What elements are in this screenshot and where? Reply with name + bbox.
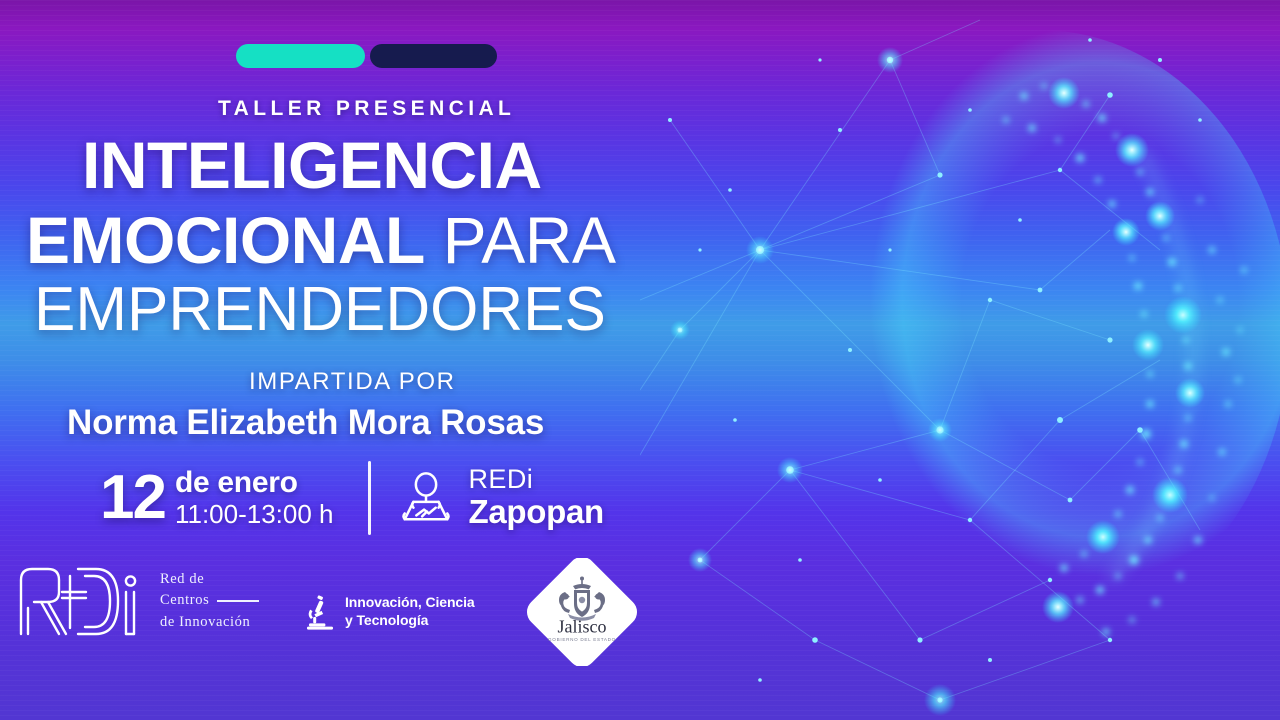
headline-line-2-strong: EMOCIONAL: [26, 203, 425, 277]
redi-logo-lockup: Red de Centros de Innovación: [14, 562, 259, 640]
event-meta: 12 de enero 11:00-13:00 h: [100, 455, 604, 541]
event-day: 12: [100, 467, 165, 529]
microscope-icon: [305, 594, 335, 630]
redi-tagline-line-3: de Innovación: [160, 612, 259, 633]
poster-canvas: TALLER PRESENCIAL INTELIGENCIA EMOCIONAL…: [0, 0, 1280, 720]
headline-line-3: EMPRENDEDORES: [0, 281, 760, 340]
headline-line-1: INTELIGENCIA: [0, 134, 760, 197]
redi-tagline-line-2: Centros: [160, 590, 209, 611]
footer-logos: Red de Centros de Innovación: [0, 556, 700, 666]
venue-text: REDi Zapopan: [469, 465, 604, 530]
kicker-label: TALLER PRESENCIAL: [218, 97, 515, 121]
map-pin-icon: [397, 469, 455, 527]
redi-tagline: Red de Centros de Innovación: [160, 569, 259, 632]
jalisco-tagline: GOBIERNO DEL ESTADO: [548, 637, 616, 642]
headline-line-2: EMOCIONAL PARA: [0, 209, 760, 272]
jalisco-name: Jalisco: [558, 617, 607, 637]
redi-tagline-rule: [217, 600, 259, 602]
event-date: 12 de enero 11:00-13:00 h: [100, 467, 334, 529]
redi-wordmark-icon: [14, 562, 146, 640]
ict-label: Innovación, Ciencia y Tecnología: [345, 594, 475, 630]
event-hours: 11:00-13:00 h: [175, 500, 334, 529]
ict-label-line-1: Innovación, Ciencia: [345, 594, 475, 612]
presenter-name: Norma Elizabeth Mora Rosas: [67, 403, 544, 443]
ict-label-line-2: y Tecnología: [345, 612, 475, 630]
presenter-label: IMPARTIDA POR: [249, 368, 456, 396]
page-title: INTELIGENCIA EMOCIONAL PARA EMPRENDEDORE…: [0, 134, 760, 340]
event-venue: REDi Zapopan: [397, 465, 604, 530]
headline-line-2-light: PARA: [425, 203, 616, 277]
redi-tagline-line-2-row: Centros: [160, 590, 259, 611]
jalisco-logo-badge: Jalisco GOBIERNO DEL ESTADO: [521, 558, 643, 666]
ict-logo-lockup: Innovación, Ciencia y Tecnología: [305, 594, 475, 630]
redi-tagline-line-1: Red de: [160, 569, 259, 590]
event-month: de enero: [175, 467, 334, 499]
venue-line-2: Zapopan: [469, 494, 604, 530]
event-date-text: de enero 11:00-13:00 h: [175, 467, 334, 529]
meta-divider: [368, 461, 371, 535]
venue-line-1: REDi: [469, 465, 604, 494]
